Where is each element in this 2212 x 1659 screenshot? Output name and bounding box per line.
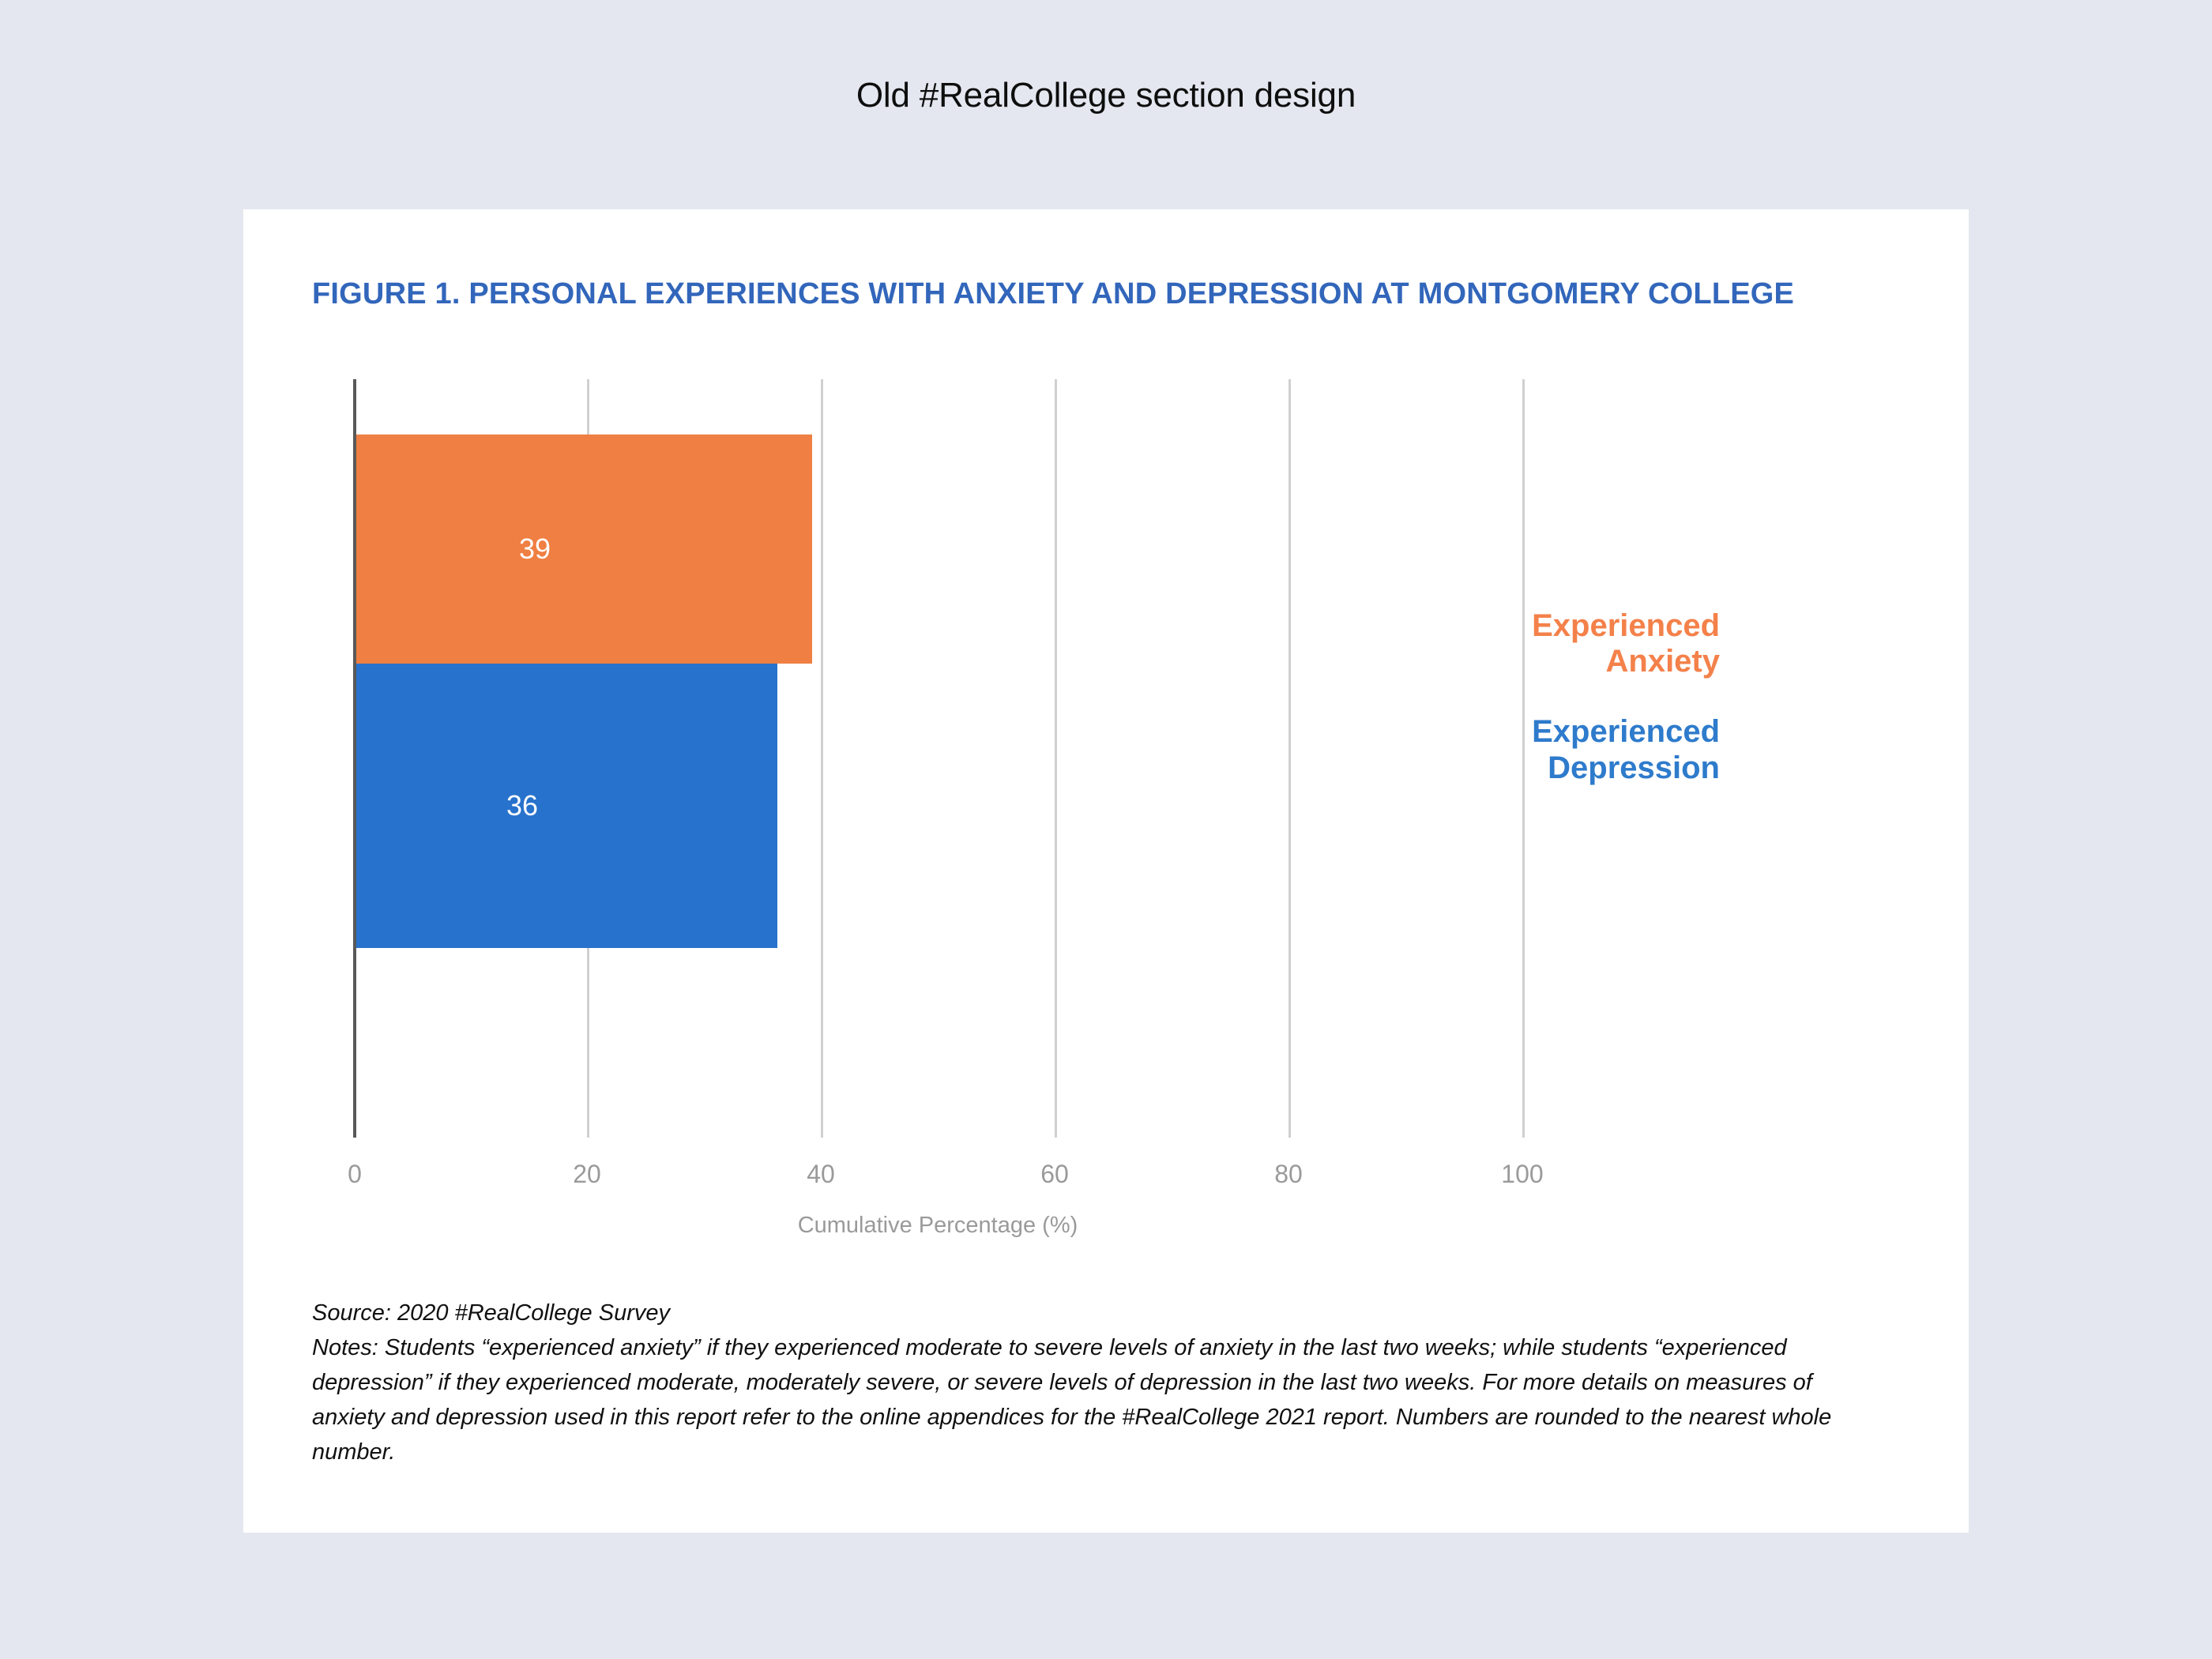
- x-tick-label-0: 0: [348, 1160, 362, 1189]
- slide-title: Old #RealCollege section design: [0, 76, 2212, 115]
- figure-source: Source: 2020 #RealCollege Survey: [312, 1296, 1860, 1330]
- x-tick-label-40: 40: [807, 1160, 835, 1189]
- x-tick-label-60: 60: [1040, 1160, 1069, 1189]
- legend-item-experienced-depression[interactable]: Experienced Depression: [1467, 714, 1720, 785]
- x-tick-label-100: 100: [1501, 1160, 1543, 1189]
- bar-value-anxiety: 39: [519, 535, 551, 563]
- figure-card: FIGURE 1. PERSONAL EXPERIENCES WITH ANXI…: [243, 209, 1969, 1533]
- x-tick-label-80: 80: [1274, 1160, 1303, 1189]
- bar-value-depression: 36: [506, 792, 538, 820]
- bar-group: 39 36: [356, 379, 1522, 1138]
- legend-item-experienced-anxiety[interactable]: Experienced Anxiety: [1467, 608, 1720, 679]
- figure-title: FIGURE 1. PERSONAL EXPERIENCES WITH ANXI…: [312, 276, 1813, 312]
- chart-plot-area: 39 36 Experienced Anxiety Experienced De…: [353, 379, 1522, 1138]
- slide-canvas: Old #RealCollege section design FIGURE 1…: [0, 0, 2212, 1659]
- figure-footnotes: Source: 2020 #RealCollege Survey Notes: …: [312, 1296, 1860, 1469]
- x-axis-label: Cumulative Percentage (%): [353, 1213, 1522, 1239]
- x-tick-label-20: 20: [573, 1160, 601, 1189]
- bar-experienced-anxiety[interactable]: 39: [356, 434, 812, 664]
- chart-legend: Experienced Anxiety Experienced Depressi…: [1467, 608, 1720, 786]
- bar-experienced-depression[interactable]: 36: [356, 664, 777, 948]
- figure-notes: Notes: Students “experienced anxiety” if…: [312, 1330, 1860, 1469]
